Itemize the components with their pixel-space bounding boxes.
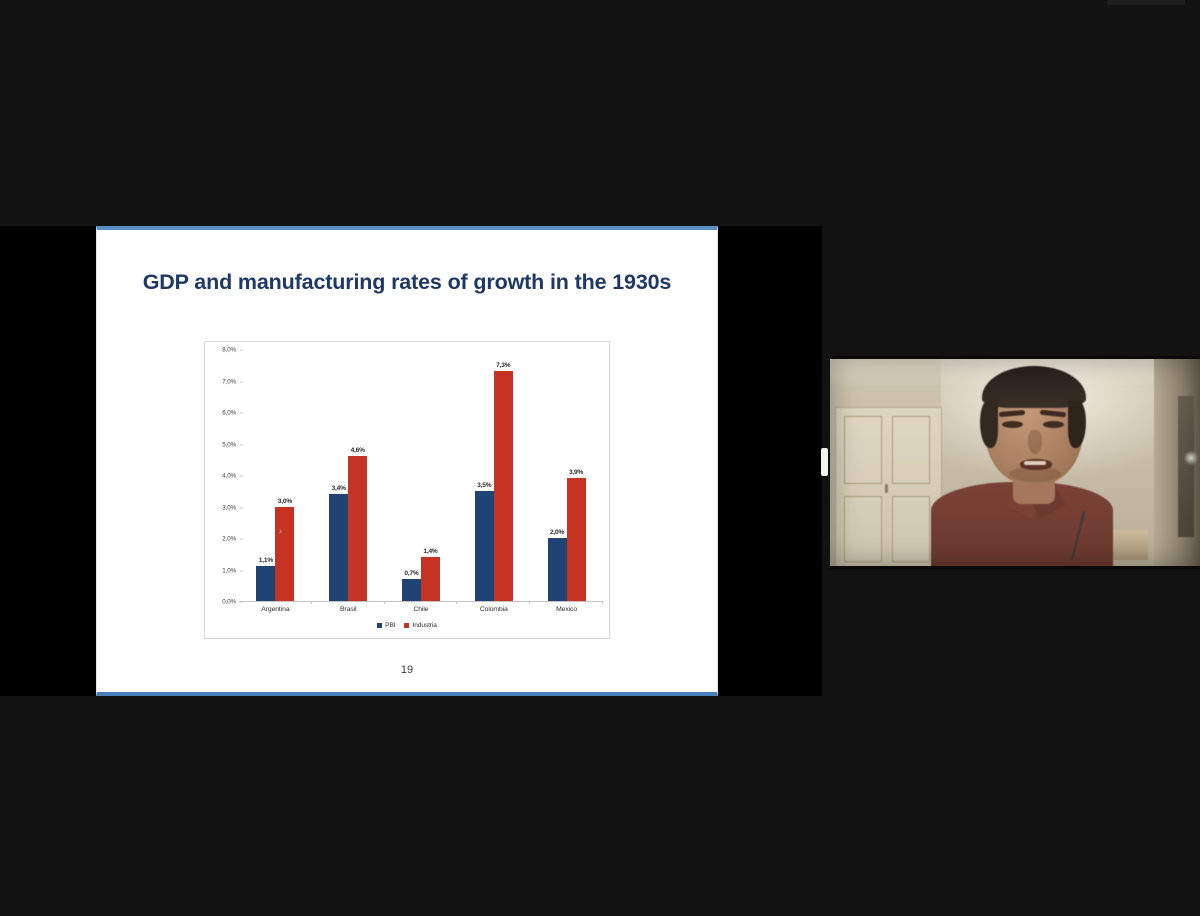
bar-value-label: 3,9% — [569, 469, 583, 476]
bar-value-label: 3,4% — [332, 485, 346, 492]
bar-industria-argentina: 3,0% — [275, 507, 294, 602]
bar-group: 1,1%3,0% — [239, 350, 312, 601]
x-axis-label-argentina: Argentina — [239, 606, 312, 613]
legend-label: PBI — [385, 622, 395, 629]
bar-industria-brasil: 4,6% — [348, 456, 367, 601]
bar-pbi-colombia: 3,5% — [475, 491, 494, 601]
top-bar-artifact — [1107, 0, 1185, 5]
bar-group: 0,7%1,4% — [385, 350, 458, 601]
x-axis-label-colombia: Colombia — [457, 606, 530, 613]
bar-value-label: 2,0% — [550, 529, 564, 536]
x-axis-label-chile: Chile — [385, 606, 458, 613]
slide-page-number: 19 — [97, 664, 717, 676]
y-axis-tick-label: 1,0% — [222, 567, 236, 574]
plot-box: 1,1%3,0%3,4%4,6%0,7%1,4%3,5%7,3%2,0%3,9%… — [239, 350, 603, 602]
y-axis: 0,0%1,0%2,0%3,0%4,0%5,0%6,0%7,0%8,0% — [209, 350, 236, 602]
slide-title: GDP and manufacturing rates of growth in… — [97, 270, 717, 295]
video-vignette — [830, 359, 1200, 566]
y-axis-tick-label: 4,0% — [222, 473, 236, 480]
bar-value-label: 0,7% — [404, 570, 418, 577]
y-axis-tick-label: 6,0% — [222, 410, 236, 417]
bar-pbi-chile: 0,7% — [402, 579, 421, 601]
y-axis-tick-label: 0,0% — [222, 599, 236, 606]
presentation-slide[interactable]: GDP and manufacturing rates of growth in… — [96, 226, 718, 696]
bar-value-label: 7,3% — [496, 362, 510, 369]
bar-value-label: 3,5% — [477, 482, 491, 489]
screen-share-viewer: GDP and manufacturing rates of growth in… — [0, 0, 1200, 916]
bar-value-label: 1,4% — [423, 548, 437, 555]
participant-video-tile[interactable] — [830, 356, 1200, 569]
chart-legend: PBIIndustria — [205, 622, 609, 629]
bar-value-label: 4,6% — [351, 447, 365, 454]
x-axis-label-mexico: Mexico — [530, 606, 603, 613]
bar-pbi-argentina: 1,1% — [256, 566, 275, 601]
bar-value-label: 1,1% — [259, 557, 273, 564]
video-feed — [830, 359, 1200, 566]
bar-group: 3,5%7,3% — [457, 350, 530, 601]
x-axis-line — [239, 601, 603, 602]
bar-group: 3,4%4,6% — [312, 350, 385, 601]
legend-item-pbi: PBI — [377, 622, 395, 629]
bar-industria-chile: 1,4% — [421, 557, 440, 601]
legend-label: Industria — [412, 622, 436, 629]
y-axis-tick-label: 3,0% — [222, 504, 236, 511]
bar-industria-colombia: 7,3% — [494, 371, 513, 601]
panel-resize-handle[interactable] — [821, 448, 828, 476]
y-axis-tick-label: 8,0% — [222, 347, 236, 354]
y-axis-tick-label: 5,0% — [222, 441, 236, 448]
bar-pbi-mexico: 2,0% — [548, 538, 567, 601]
bar-groups: 1,1%3,0%3,4%4,6%0,7%1,4%3,5%7,3%2,0%3,9% — [239, 350, 603, 601]
y-axis-tick-label: 7,0% — [222, 378, 236, 385]
x-axis-labels: ArgentinaBrasilChileColombiaMexico — [239, 606, 603, 613]
legend-swatch-icon — [377, 623, 382, 628]
chart-plot-area: 0,0%1,0%2,0%3,0%4,0%5,0%6,0%7,0%8,0% 1,1… — [205, 342, 609, 638]
legend-item-industria: Industria — [404, 622, 436, 629]
bar-value-label: 3,0% — [278, 498, 292, 505]
bar-industria-mexico: 3,9% — [567, 478, 586, 601]
y-axis-tick-label: 2,0% — [222, 536, 236, 543]
x-axis-label-brasil: Brasil — [312, 606, 385, 613]
bar-pbi-brasil: 3,4% — [329, 494, 348, 601]
legend-swatch-icon — [404, 623, 409, 628]
bar-group: 2,0%3,9% — [530, 350, 603, 601]
bar-chart: 0,0%1,0%2,0%3,0%4,0%5,0%6,0%7,0%8,0% 1,1… — [204, 341, 610, 639]
